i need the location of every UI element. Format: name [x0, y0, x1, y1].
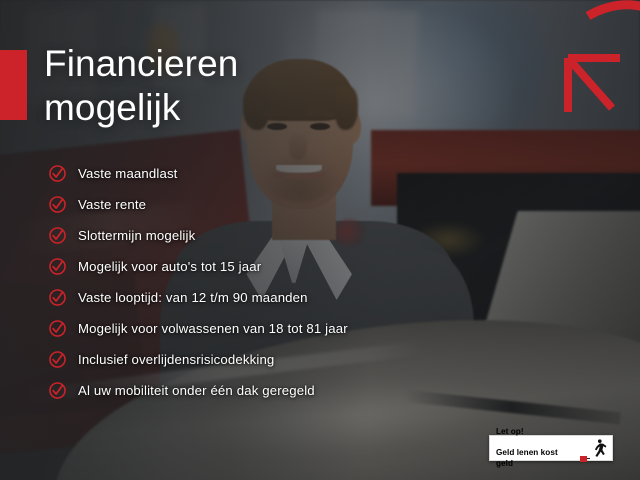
- list-item-label: Vaste rente: [78, 197, 146, 212]
- list-item-label: Al uw mobiliteit onder één dak geregeld: [78, 383, 315, 398]
- list-item: Vaste maandlast: [48, 158, 348, 189]
- warning-badge-line2: Geld lenen kost geld: [496, 448, 577, 469]
- list-item: Inclusief overlijdensrisicodekking: [48, 344, 348, 375]
- promotional-banner: Financieren mogelijk Vaste maandlast Vas…: [0, 0, 640, 480]
- list-item: Al uw mobiliteit onder één dak geregeld: [48, 375, 348, 406]
- list-item: Mogelijk voor volwassenen van 18 tot 81 …: [48, 313, 348, 344]
- list-item: Mogelijk voor auto's tot 15 jaar: [48, 251, 348, 282]
- feature-checklist: Vaste maandlast Vaste rente Slottermijn …: [48, 158, 348, 406]
- list-item-label: Mogelijk voor volwassenen van 18 tot 81 …: [78, 321, 348, 336]
- list-item-label: Mogelijk voor auto's tot 15 jaar: [78, 259, 261, 274]
- list-item: Slottermijn mogelijk: [48, 220, 348, 251]
- warning-badge-line1: Let op!: [496, 427, 587, 438]
- list-item-label: Vaste looptijd: van 12 t/m 90 maanden: [78, 290, 308, 305]
- list-item-label: Vaste maandlast: [78, 166, 178, 181]
- list-item-label: Slottermijn mogelijk: [78, 228, 195, 243]
- list-item-label: Inclusief overlijdensrisicodekking: [78, 352, 274, 367]
- status-badge: Let op! Geld lenen kost geld: [489, 435, 613, 461]
- page-title: Financieren mogelijk: [44, 42, 238, 130]
- list-item: Vaste looptijd: van 12 t/m 90 maanden: [48, 282, 348, 313]
- red-box-icon: [580, 456, 587, 462]
- check-circle-icon: [48, 350, 67, 369]
- check-circle-icon: [48, 226, 67, 245]
- check-circle-icon: [48, 257, 67, 276]
- list-item: Vaste rente: [48, 189, 348, 220]
- red-rectangle-block: [0, 50, 27, 120]
- walking-person-icon: [587, 438, 608, 459]
- check-circle-icon: [48, 381, 67, 400]
- check-circle-icon: [48, 288, 67, 307]
- warning-badge-line2-row: Geld lenen kost geld: [496, 448, 587, 469]
- check-circle-icon: [48, 164, 67, 183]
- warning-badge-text: Let op! Geld lenen kost geld: [496, 417, 587, 480]
- check-circle-icon: [48, 319, 67, 338]
- check-circle-icon: [48, 195, 67, 214]
